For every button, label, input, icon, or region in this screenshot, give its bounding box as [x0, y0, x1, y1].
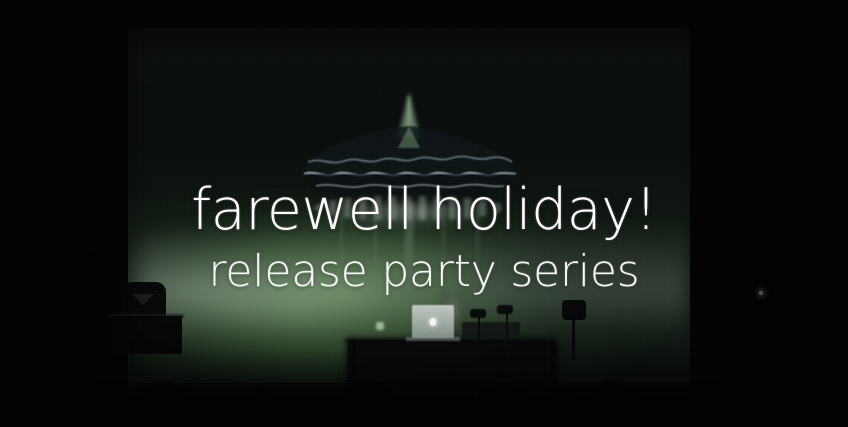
light-riser — [110, 316, 182, 354]
laptop — [412, 305, 454, 338]
video-frame: farewell holiday! release party series — [0, 0, 848, 427]
speaker-stand — [572, 318, 575, 360]
title-overlay: farewell holiday! release party series — [0, 182, 848, 294]
subtitle: release party series — [0, 250, 848, 294]
table-leg — [551, 342, 555, 388]
mic-stand-left — [478, 316, 480, 376]
equipment-indicator-light — [376, 322, 384, 330]
table-leg — [352, 342, 356, 388]
mic-head-right-icon — [497, 305, 513, 314]
mixer — [462, 322, 520, 338]
mic-stand-right — [506, 312, 508, 376]
laptop-base — [406, 337, 460, 341]
stage-light-lens-icon — [132, 294, 154, 305]
main-title: farewell holiday! — [0, 182, 848, 239]
apple-logo-icon — [430, 318, 437, 326]
monitor-speaker — [562, 300, 586, 320]
equipment-table — [348, 340, 556, 384]
mic-head-left-icon — [470, 309, 486, 318]
